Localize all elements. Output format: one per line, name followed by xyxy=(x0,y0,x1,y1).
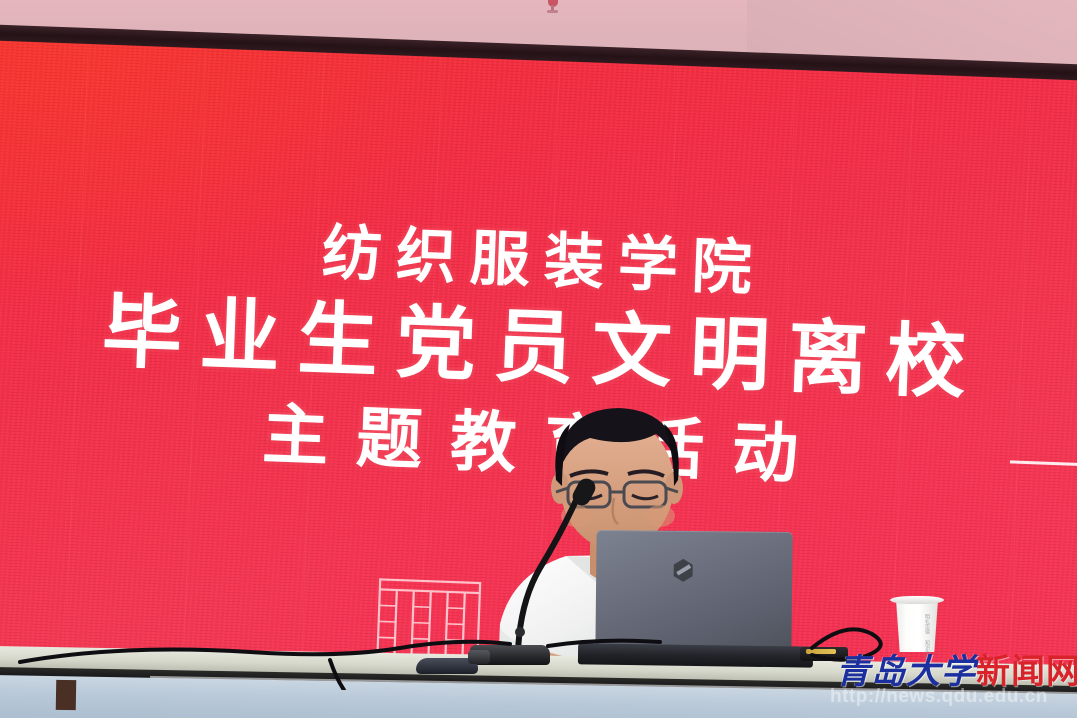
laptop-screen-lid[interactable] xyxy=(595,530,792,654)
device-indicator-strip xyxy=(806,649,836,654)
microphone-gooseneck xyxy=(500,482,590,652)
microphone-knob[interactable] xyxy=(468,650,490,664)
desk-leg xyxy=(56,680,77,710)
news-watermark: 青岛大学新闻网 http://news.qdu.edu.cn xyxy=(836,644,1072,714)
paper-cup-rim xyxy=(890,596,944,604)
screenshot-root: 纺织服装学院 毕业生党员文明离校 主题教育活动 xyxy=(0,0,1077,718)
laptop-brand-logo-icon xyxy=(672,559,694,582)
laptop-keyboard-base[interactable] xyxy=(578,643,813,667)
watermark-url: http://news.qdu.edu.cn xyxy=(830,686,1048,708)
fire-sprinkler-icon xyxy=(545,0,561,16)
